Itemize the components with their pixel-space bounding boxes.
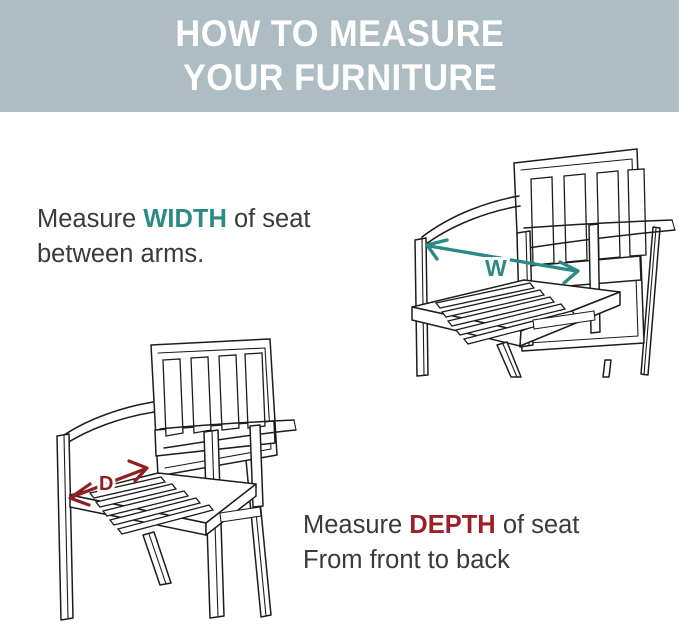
depth-chair-front-leg (143, 532, 171, 585)
width-text-prefix: Measure (37, 205, 143, 233)
measurement-guide-page: HOW TO MEASURE YOUR FURNITURE Measure WI… (0, 0, 679, 642)
depth-instruction-line-1: Measure DEPTH of seat (303, 508, 579, 543)
width-instruction-line-1: Measure WIDTH of seat (37, 202, 311, 237)
depth-instruction-text: Measure DEPTH of seat From front to back (303, 508, 579, 578)
width-text-suffix: of seat (227, 205, 311, 233)
width-measurement-label: W (485, 255, 507, 281)
width-chair-front-leg (497, 342, 521, 377)
depth-instruction-line-2: From front to back (303, 543, 579, 578)
depth-keyword: DEPTH (409, 511, 495, 539)
width-keyword: WIDTH (143, 205, 227, 233)
depth-text-suffix: of seat (496, 511, 580, 539)
page-title-line-1: HOW TO MEASURE (175, 12, 504, 56)
width-instruction-line-2: between arms. (37, 237, 311, 272)
depth-measurement-label: D (99, 473, 113, 495)
width-chair-diagram: W W (404, 132, 679, 377)
depth-chair-diagram: D D (28, 330, 318, 642)
depth-text-prefix: Measure (303, 511, 409, 539)
page-header: HOW TO MEASURE YOUR FURNITURE (0, 0, 679, 112)
width-instruction-text: Measure WIDTH of seat between arms. (37, 202, 311, 272)
page-title-line-2: YOUR FURNITURE (182, 56, 496, 100)
